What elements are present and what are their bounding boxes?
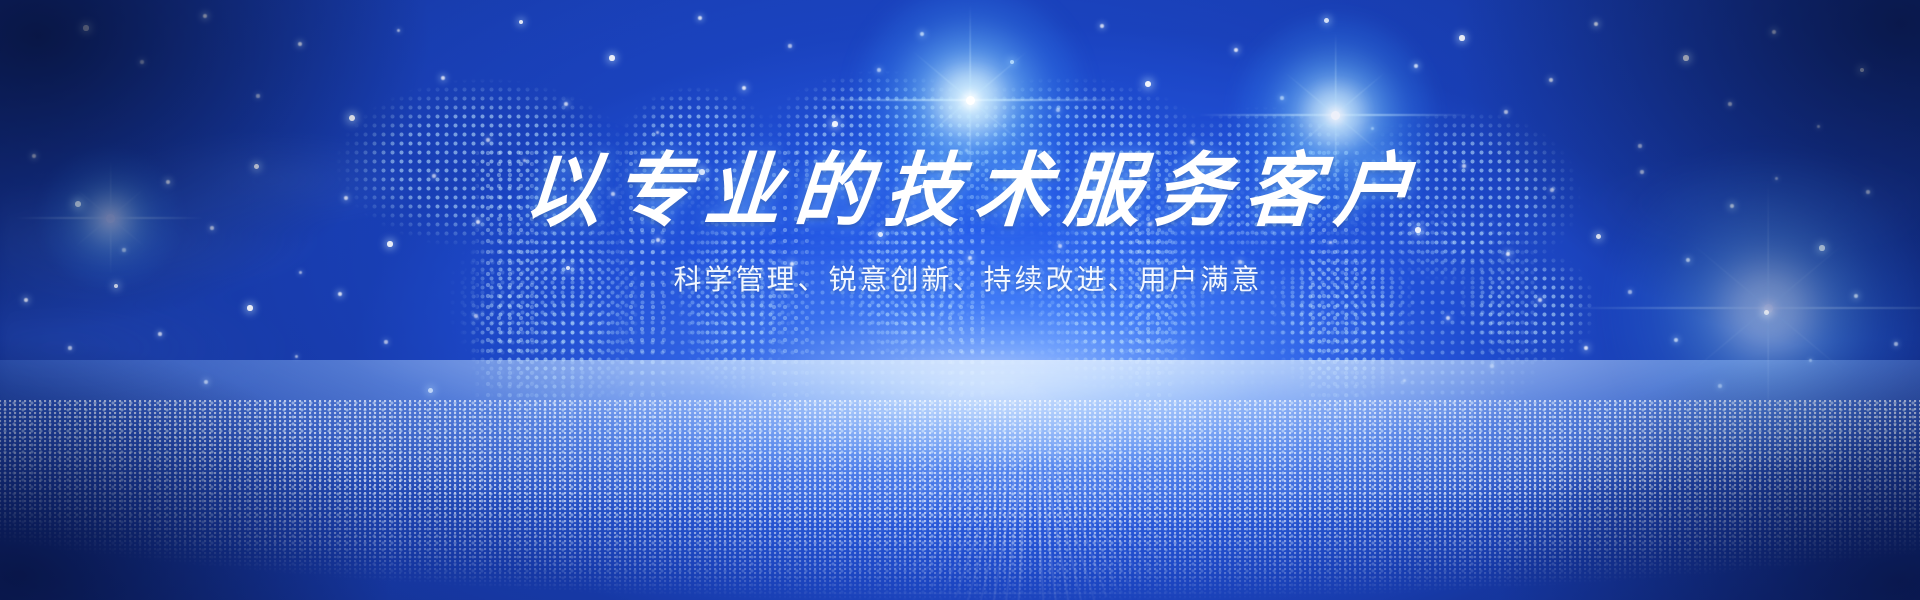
starfield bbox=[0, 0, 1920, 600]
star-dot bbox=[204, 380, 208, 384]
star-dot bbox=[609, 55, 614, 60]
star-dot bbox=[1894, 342, 1897, 345]
flare-ray-diagonal-b bbox=[912, 51, 1028, 148]
star-dot bbox=[742, 86, 747, 91]
city-block-row bbox=[80, 437, 1920, 438]
star-dot bbox=[1414, 64, 1418, 68]
flare-ray-horizontal bbox=[1558, 307, 1920, 309]
street-line bbox=[1030, 380, 1070, 600]
star-dot bbox=[877, 68, 881, 72]
star-dot bbox=[1324, 18, 1329, 23]
star-dot bbox=[1817, 125, 1820, 128]
street-line bbox=[1030, 379, 1202, 534]
flare-ray-diagonal-a bbox=[912, 51, 1028, 148]
flare-ray-horizontal bbox=[1198, 114, 1471, 116]
street-line bbox=[1030, 380, 1107, 598]
street-line bbox=[1030, 379, 1210, 524]
star-dot bbox=[295, 355, 298, 358]
nebula-haze bbox=[0, 0, 1920, 600]
city-lights-texture bbox=[0, 400, 1920, 600]
star-dot bbox=[428, 388, 433, 393]
star-dot bbox=[474, 314, 477, 317]
earth-surface-glow bbox=[0, 360, 1920, 600]
city-block-row bbox=[770, 593, 1230, 594]
star-dot bbox=[1403, 379, 1406, 382]
street-line bbox=[868, 379, 1031, 543]
star-dot bbox=[698, 16, 702, 20]
star-dot bbox=[1234, 48, 1238, 52]
star-dot bbox=[920, 32, 924, 36]
street-line bbox=[887, 380, 1031, 561]
star-dot bbox=[68, 346, 71, 349]
star-dot bbox=[1674, 338, 1678, 342]
star-dot bbox=[1446, 316, 1450, 320]
star-dot bbox=[256, 94, 259, 97]
star-dot bbox=[656, 131, 659, 134]
star-dot bbox=[1718, 384, 1722, 388]
street-line bbox=[877, 380, 1031, 553]
street-line bbox=[954, 380, 1031, 598]
street-line bbox=[979, 380, 1031, 600]
hero-banner: 以专业的技术服务客户 科学管理、锐意创新、持续改进、用户满意 bbox=[0, 0, 1920, 600]
street-line bbox=[851, 379, 1031, 524]
street-line bbox=[1030, 380, 1153, 576]
street-line bbox=[1030, 379, 1193, 543]
street-line bbox=[1030, 380, 1082, 600]
city-block-row bbox=[425, 515, 1575, 516]
star-dot bbox=[1772, 30, 1776, 34]
star-dot bbox=[1371, 127, 1374, 130]
city-block-row bbox=[540, 541, 1460, 542]
city-block-row bbox=[195, 463, 1805, 464]
star-dot bbox=[1809, 359, 1812, 362]
star-dot bbox=[1764, 310, 1769, 315]
star-dot bbox=[384, 340, 387, 343]
street-line bbox=[859, 379, 1031, 534]
street-line bbox=[1030, 380, 1184, 553]
star-dot bbox=[1549, 78, 1553, 82]
star-dot bbox=[1010, 60, 1015, 65]
street-line bbox=[1030, 380, 1164, 569]
flare-ray-horizontal bbox=[812, 99, 1127, 101]
street-line bbox=[908, 380, 1031, 576]
star-dot bbox=[1145, 81, 1151, 87]
star-dot bbox=[1728, 102, 1732, 106]
star-dot bbox=[1490, 364, 1493, 367]
star-dot bbox=[486, 138, 489, 141]
star-dot bbox=[1594, 22, 1599, 27]
street-line bbox=[1030, 380, 1142, 582]
street-line bbox=[942, 380, 1031, 593]
star-dot bbox=[1280, 96, 1284, 100]
banner-subtitle: 科学管理、锐意创新、持续改进、用户满意 bbox=[0, 260, 1920, 299]
star-dot bbox=[441, 76, 445, 80]
city-street-lines bbox=[0, 390, 1920, 600]
star-dot bbox=[203, 14, 207, 18]
street-line bbox=[1030, 380, 1131, 588]
street-line bbox=[1030, 380, 1119, 593]
flare-core bbox=[1764, 304, 1773, 313]
flare-core bbox=[1331, 111, 1340, 120]
street-line bbox=[992, 380, 1032, 600]
flare-core bbox=[966, 96, 975, 105]
street-line bbox=[931, 380, 1032, 588]
street-line bbox=[1030, 380, 1057, 600]
star-dot bbox=[564, 102, 568, 106]
street-line bbox=[919, 380, 1031, 582]
street-line bbox=[1030, 380, 1174, 561]
star-dot bbox=[298, 42, 302, 46]
star-dot bbox=[83, 25, 88, 30]
street-line bbox=[898, 380, 1032, 569]
star-dot bbox=[1459, 35, 1464, 40]
star-dot bbox=[832, 121, 837, 126]
star-dot bbox=[1504, 110, 1507, 113]
star-dot bbox=[397, 29, 400, 32]
star-dot bbox=[158, 332, 162, 336]
star-dot bbox=[788, 44, 791, 47]
star-dot bbox=[1860, 68, 1865, 73]
star-dot bbox=[1100, 24, 1104, 28]
banner-copy-block: 以专业的技术服务客户 科学管理、锐意创新、持续改进、用户满意 bbox=[0, 150, 1920, 299]
city-block-row bbox=[655, 567, 1345, 568]
star-dot bbox=[247, 305, 252, 310]
street-line bbox=[967, 380, 1032, 600]
banner-headline: 以专业的技术服务客户 bbox=[0, 148, 1920, 235]
star-dot bbox=[1683, 55, 1688, 60]
city-block-row bbox=[310, 489, 1690, 490]
star-dot bbox=[519, 20, 524, 25]
star-dot bbox=[140, 60, 144, 64]
street-line bbox=[1030, 380, 1095, 600]
corner-vignette bbox=[0, 0, 1920, 600]
star-dot bbox=[1584, 346, 1589, 351]
street-line bbox=[1030, 380, 1044, 600]
star-dot bbox=[349, 115, 355, 121]
star-dot bbox=[1056, 108, 1059, 111]
street-line bbox=[1004, 380, 1031, 600]
earth-horizon-rim bbox=[0, 0, 1920, 600]
street-line bbox=[1017, 380, 1031, 600]
